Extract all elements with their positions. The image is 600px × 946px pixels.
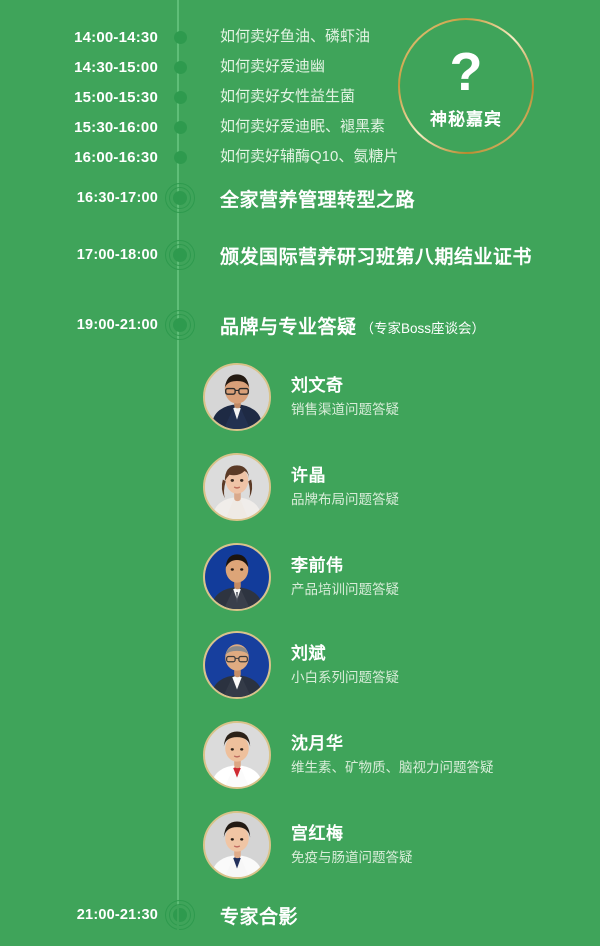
expert-role: 销售渠道问题答疑 — [291, 401, 399, 419]
avatar — [203, 631, 271, 699]
timeline-spine — [177, 0, 179, 946]
timeline-node — [158, 151, 202, 164]
schedule-title: 如何卖好鱼油、磷虾油 — [220, 28, 370, 45]
expert-card: 宫红梅 免疫与肠道问题答疑 — [203, 811, 413, 879]
expert-card: 李前伟 产品培训问题答疑 — [203, 543, 399, 611]
schedule-title-cell: 品牌与专业答疑（专家Boss座谈会） — [202, 312, 600, 339]
timeline-dot-small — [174, 121, 187, 134]
agenda-poster: 14:00-14:30 如何卖好鱼油、磷虾油 14:30-15:00 如何卖好爱… — [0, 0, 600, 946]
avatar — [203, 543, 271, 611]
schedule-title: 如何卖好辅酶Q10、氨糖片 — [220, 148, 398, 165]
schedule-title-cell: 专家合影 — [202, 902, 600, 929]
schedule-title-cell: 颁发国际营养研习班第八期结业证书 — [202, 242, 600, 269]
schedule-row: 16:00-16:30 如何卖好辅酶Q10、氨糖片 — [0, 146, 600, 168]
mystery-guest-label: 神秘嘉宾 — [430, 105, 502, 130]
avatar-photo — [205, 455, 269, 519]
schedule-title: 如何卖好女性益生菌 — [220, 88, 355, 105]
schedule-row-highlight: 17:00-18:00 颁发国际营养研习班第八期结业证书 — [0, 240, 600, 270]
schedule-time: 16:00-16:30 — [0, 149, 158, 166]
avatar — [203, 811, 271, 879]
avatar — [203, 453, 271, 521]
timeline-dot-small — [174, 31, 187, 44]
expert-info: 许晶 品牌布局问题答疑 — [271, 465, 399, 508]
expert-card: 刘文奇 销售渠道问题答疑 — [203, 363, 399, 431]
expert-name: 沈月华 — [291, 733, 494, 754]
schedule-row-highlight: 21:00-21:30 专家合影 — [0, 900, 600, 930]
schedule-title-cell: 全家营养管理转型之路 — [202, 185, 600, 212]
expert-info: 沈月华 维生素、矿物质、脑视力问题答疑 — [271, 733, 494, 776]
schedule-title: 颁发国际营养研习班第八期结业证书 — [220, 247, 532, 268]
schedule-time: 15:30-16:00 — [0, 119, 158, 136]
timeline-dot-small — [174, 151, 187, 164]
timeline-node — [158, 240, 202, 270]
avatar — [203, 721, 271, 789]
avatar-photo — [205, 813, 269, 877]
avatar-photo — [205, 723, 269, 787]
schedule-time: 14:00-14:30 — [0, 29, 158, 46]
expert-name: 许晶 — [291, 465, 399, 486]
expert-info: 宫红梅 免疫与肠道问题答疑 — [271, 823, 413, 866]
mystery-guest-badge: ? 神秘嘉宾 — [398, 18, 534, 154]
schedule-title: 品牌与专业答疑（专家Boss座谈会） — [220, 317, 485, 338]
expert-card: 许晶 品牌布局问题答疑 — [203, 453, 399, 521]
avatar-photo — [205, 545, 269, 609]
timeline-dot-large — [165, 240, 195, 270]
expert-role: 小白系列问题答疑 — [291, 669, 399, 687]
timeline-node — [158, 61, 202, 74]
schedule-time: 17:00-18:00 — [0, 247, 158, 263]
expert-card: 刘斌 小白系列问题答疑 — [203, 631, 399, 699]
schedule-title: 如何卖好爱迪幽 — [220, 58, 325, 75]
schedule-title-cell: 如何卖好鱼油、磷虾油 — [202, 28, 600, 46]
timeline-spine-end-mask — [177, 905, 179, 946]
timeline-node — [158, 91, 202, 104]
timeline-dot-large — [165, 183, 195, 213]
timeline-dot-large — [165, 900, 195, 930]
schedule-time: 19:00-21:00 — [0, 317, 158, 333]
expert-name: 李前伟 — [291, 555, 399, 576]
expert-name: 刘文奇 — [291, 375, 399, 396]
expert-info: 刘斌 小白系列问题答疑 — [271, 643, 399, 686]
question-mark-icon: ? — [450, 45, 483, 99]
schedule-title: 全家营养管理转型之路 — [220, 190, 415, 211]
schedule-title-cell: 如何卖好辅酶Q10、氨糖片 — [202, 148, 600, 166]
schedule-title: 专家合影 — [220, 907, 298, 928]
avatar — [203, 363, 271, 431]
schedule-time: 14:30-15:00 — [0, 59, 158, 76]
expert-info: 李前伟 产品培训问题答疑 — [271, 555, 399, 598]
timeline-dot-small — [174, 91, 187, 104]
timeline-node — [158, 310, 202, 340]
expert-role: 免疫与肠道问题答疑 — [291, 849, 413, 867]
expert-card: 沈月华 维生素、矿物质、脑视力问题答疑 — [203, 721, 494, 789]
timeline-node — [158, 31, 202, 44]
schedule-title-main: 品牌与专业答疑 — [220, 317, 357, 338]
expert-role: 产品培训问题答疑 — [291, 581, 399, 599]
avatar-photo — [205, 365, 269, 429]
avatar-photo — [205, 633, 269, 697]
expert-info: 刘文奇 销售渠道问题答疑 — [271, 375, 399, 418]
schedule-time: 21:00-21:30 — [0, 907, 158, 923]
timeline-dot-small — [174, 61, 187, 74]
expert-name: 宫红梅 — [291, 823, 413, 844]
schedule-row-highlight: 19:00-21:00 品牌与专业答疑（专家Boss座谈会） — [0, 310, 600, 340]
schedule-title-cell: 如何卖好爱迪眠、褪黑素 — [202, 118, 600, 136]
timeline-node — [158, 900, 202, 930]
timeline-node — [158, 183, 202, 213]
expert-role: 品牌布局问题答疑 — [291, 491, 399, 509]
timeline-dot-large — [165, 310, 195, 340]
schedule-time: 15:00-15:30 — [0, 89, 158, 106]
schedule-time: 16:30-17:00 — [0, 190, 158, 206]
schedule-title: 如何卖好爱迪眠、褪黑素 — [220, 118, 385, 135]
timeline-node — [158, 121, 202, 134]
schedule-row-highlight: 16:30-17:00 全家营养管理转型之路 — [0, 183, 600, 213]
expert-name: 刘斌 — [291, 643, 399, 664]
schedule-title-note: （专家Boss座谈会） — [361, 321, 486, 336]
expert-role: 维生素、矿物质、脑视力问题答疑 — [291, 759, 494, 777]
